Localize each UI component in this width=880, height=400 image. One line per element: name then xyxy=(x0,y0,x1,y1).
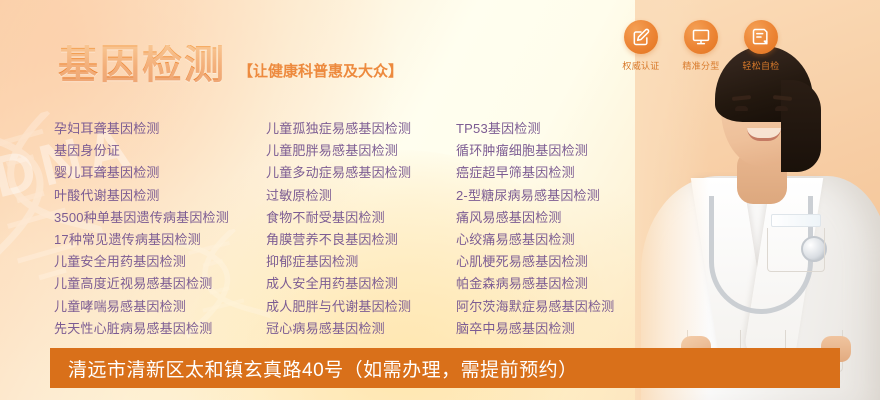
service-column-2: 儿童孤独症易感基因检测 儿童肥胖易感基因检测 儿童多动症易感基因检测 过敏原检测… xyxy=(266,118,456,340)
address-bar-overlay xyxy=(635,348,840,388)
list-item[interactable]: TP53基因检测 xyxy=(456,118,656,140)
service-item-columns: 孕妇耳聋基因检测 基因身份证 婴儿耳聋基因检测 叶酸代谢基因检测 3500种单基… xyxy=(54,118,656,340)
report-icon xyxy=(744,20,778,54)
genetic-testing-poster: DNA DNA xyxy=(0,0,880,400)
service-column-1: 孕妇耳聋基因检测 基因身份证 婴儿耳聋基因检测 叶酸代谢基因检测 3500种单基… xyxy=(54,118,266,340)
list-item[interactable]: 儿童多动症易感基因检测 xyxy=(266,162,456,184)
list-item[interactable]: 心绞痛易感基因检测 xyxy=(456,229,656,251)
list-item[interactable]: 循环肿瘤细胞基因检测 xyxy=(456,140,656,162)
list-item[interactable]: 先天性心脏病易感基因检测 xyxy=(54,318,266,340)
list-item[interactable]: 心肌梗死易感基因检测 xyxy=(456,251,656,273)
list-item[interactable]: 脑卒中易感基因检测 xyxy=(456,318,656,340)
feature-badge-self-test[interactable]: 轻松自检 xyxy=(736,20,786,72)
list-item[interactable]: 成人安全用药基因检测 xyxy=(266,273,456,295)
list-item[interactable]: 叶酸代谢基因检测 xyxy=(54,185,266,207)
list-item[interactable]: 冠心病易感基因检测 xyxy=(266,318,456,340)
page-title: 基因检测 【让健康科普惠及大众】 xyxy=(58,45,403,85)
feature-badge-list: 权威认证 精准分型 轻松自检 xyxy=(616,20,786,72)
list-item[interactable]: 阿尔茨海默症易感基因检测 xyxy=(456,296,656,318)
list-item[interactable]: 儿童哮喘易感基因检测 xyxy=(54,296,266,318)
list-item[interactable]: 抑郁症基因检测 xyxy=(266,251,456,273)
list-item[interactable]: 儿童高度近视易感基因检测 xyxy=(54,273,266,295)
feature-badge-label: 精准分型 xyxy=(676,59,726,72)
list-item[interactable]: 孕妇耳聋基因检测 xyxy=(54,118,266,140)
list-item[interactable]: 成人肥胖与代谢基因检测 xyxy=(266,296,456,318)
list-item[interactable]: 婴儿耳聋基因检测 xyxy=(54,162,266,184)
doctor-eye-right xyxy=(775,106,788,111)
list-item[interactable]: 痛风易感基因检测 xyxy=(456,207,656,229)
feature-badge-authority[interactable]: 权威认证 xyxy=(616,20,666,72)
list-item[interactable]: 食物不耐受基因检测 xyxy=(266,207,456,229)
list-item[interactable]: 儿童孤独症易感基因检测 xyxy=(266,118,456,140)
title-subtitle-text: 【让健康科普惠及大众】 xyxy=(238,60,403,85)
list-item[interactable]: 癌症超早筛基因检测 xyxy=(456,162,656,184)
list-item[interactable]: 过敏原检测 xyxy=(266,185,456,207)
title-main-text: 基因检测 xyxy=(58,45,226,85)
list-item[interactable]: 帕金森病易感基因检测 xyxy=(456,273,656,295)
feature-badge-typing[interactable]: 精准分型 xyxy=(676,20,726,72)
address-text: 清远市清新区太和镇玄真路40号（如需办理，需提前预约） xyxy=(68,355,578,382)
list-item[interactable]: 3500种单基因遗传病基因检测 xyxy=(54,207,266,229)
doctor-eye-left xyxy=(735,106,748,111)
monitor-icon xyxy=(684,20,718,54)
lab-coat-chest-pocket xyxy=(767,228,825,272)
feature-badge-label: 轻松自检 xyxy=(736,59,786,72)
list-item[interactable]: 儿童安全用药基因检测 xyxy=(54,251,266,273)
feature-badge-label: 权威认证 xyxy=(616,59,666,72)
list-item[interactable]: 2-型糖尿病易感基因检测 xyxy=(456,185,656,207)
list-item[interactable]: 17种常见遗传病基因检测 xyxy=(54,229,266,251)
service-column-3: TP53基因检测 循环肿瘤细胞基因检测 癌症超早筛基因检测 2-型糖尿病易感基因… xyxy=(456,118,656,340)
list-item[interactable]: 基因身份证 xyxy=(54,140,266,162)
doctor-name-badge xyxy=(771,214,821,227)
list-item[interactable]: 角膜营养不良基因检测 xyxy=(266,229,456,251)
list-item[interactable]: 儿童肥胖易感基因检测 xyxy=(266,140,456,162)
edit-document-icon xyxy=(624,20,658,54)
